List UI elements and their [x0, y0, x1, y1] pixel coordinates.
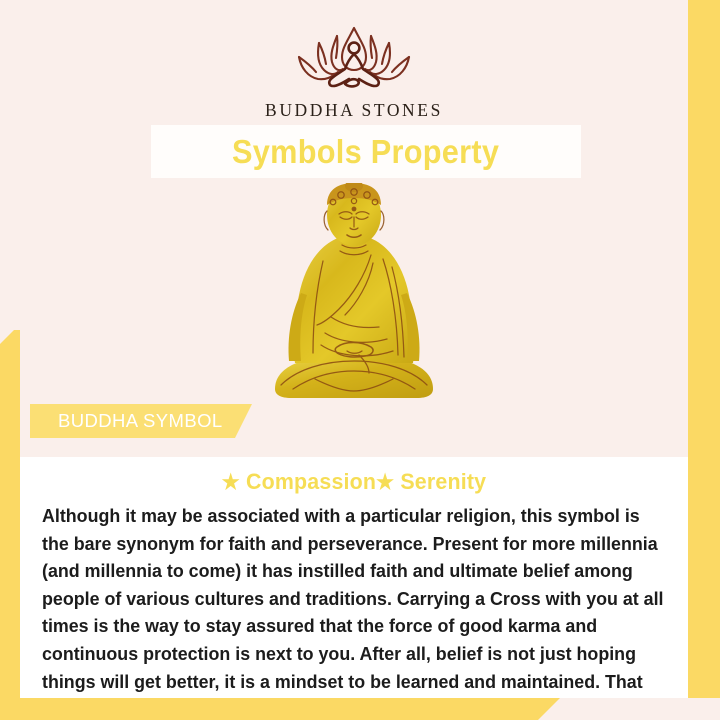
lotus-meditation-icon [279, 22, 429, 92]
decor-left-bar [0, 330, 20, 700]
attribute-compassion: Compassion [246, 469, 376, 494]
buddha-symbol-ribbon: BUDDHA SYMBOL [30, 404, 252, 438]
star-icon-2: ★ [376, 471, 394, 494]
header-section: BUDDHA STONES Symbols Property [20, 0, 688, 457]
body-paragraph: Although it may be associated with a par… [42, 502, 665, 720]
ribbon-label: BUDDHA SYMBOL [58, 410, 223, 432]
star-icon-1: ★ [222, 471, 240, 494]
seated-buddha-statue-icon [261, 183, 447, 405]
content-panel: ★ Compassion★ Serenity Although it may b… [20, 457, 688, 698]
attribute-serenity: Serenity [400, 469, 486, 494]
brand-logo: BUDDHA STONES [20, 22, 688, 121]
decor-right-bar [688, 0, 720, 700]
brand-name: BUDDHA STONES [265, 100, 443, 121]
decor-bottom-bar [0, 698, 560, 720]
title-banner: Symbols Property [151, 125, 581, 178]
attributes-subtitle: ★ Compassion★ Serenity [58, 469, 651, 495]
buddha-figure [20, 183, 688, 405]
page-title: Symbols Property [232, 133, 499, 171]
poster-canvas: BUDDHA STONES Symbols Property [0, 0, 720, 720]
